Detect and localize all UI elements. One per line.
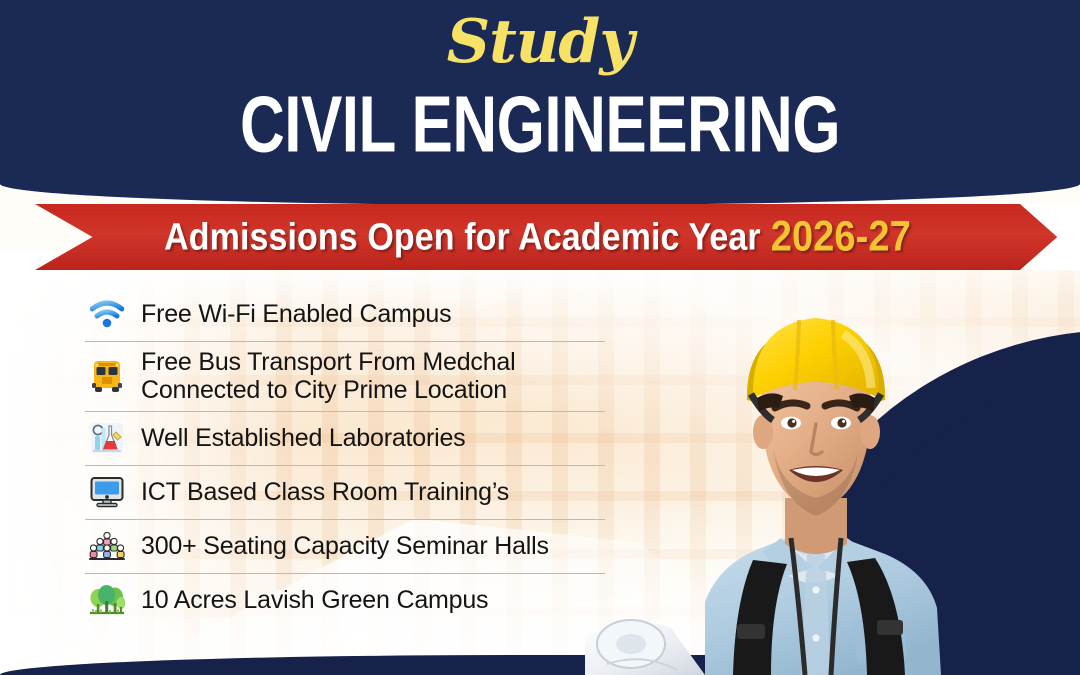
ribbon-text-wrap: Admissions Open for Academic Year 2026-2… [35, 200, 1040, 274]
laboratory-icon [85, 418, 129, 458]
list-item: Well Established Laboratories [85, 412, 605, 466]
list-item: Free Wi-Fi Enabled Campus [85, 288, 605, 342]
header-band: Study CIVIL ENGINEERING [0, 0, 1080, 205]
list-item-label: Free Bus Transport From Medchal Connecte… [141, 348, 516, 404]
school-bus-icon [85, 356, 129, 396]
list-item: 300+ Seating Capacity Seminar Halls [85, 520, 605, 574]
list-item-label: ICT Based Class Room Training’s [141, 478, 509, 506]
page-title: CIVIL ENGINEERING [0, 86, 1080, 165]
list-item-label: Well Established Laboratories [141, 424, 465, 452]
header-script-word: Study [0, 12, 1080, 72]
audience-icon [85, 526, 129, 566]
list-item-label: 300+ Seating Capacity Seminar Halls [141, 532, 549, 560]
list-item: Free Bus Transport From Medchal Connecte… [85, 342, 605, 412]
monitor-icon [85, 472, 129, 512]
blueprint-rolls [585, 620, 705, 675]
wifi-icon [85, 294, 129, 334]
civil-engineering-admissions-banner: Study CIVIL ENGINEERING Admissions Open … [0, 0, 1080, 675]
list-item-label: 10 Acres Lavish Green Campus [141, 586, 488, 614]
feature-list: Free Wi-Fi Enabled Campus Free [85, 288, 605, 627]
ribbon-academic-year: 2026-27 [771, 213, 911, 261]
list-item: 10 Acres Lavish Green Campus [85, 574, 605, 627]
admissions-ribbon: Admissions Open for Academic Year 2026-2… [0, 200, 1080, 280]
ribbon-label: Admissions Open for Academic Year [164, 215, 761, 259]
trees-icon [85, 580, 129, 620]
list-item-label: Free Wi-Fi Enabled Campus [141, 300, 451, 328]
list-item: ICT Based Class Room Training’s [85, 466, 605, 520]
student-photo [585, 272, 1015, 675]
